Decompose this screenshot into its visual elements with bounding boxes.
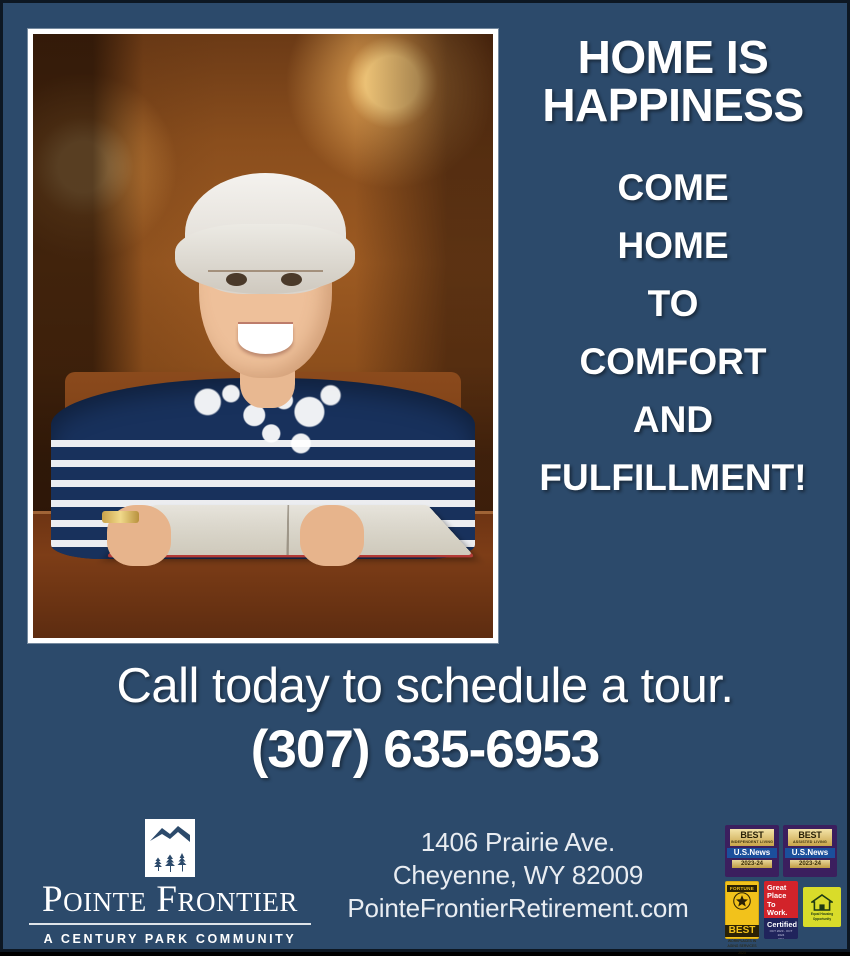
fortune-best-workplaces-badge: FORTUNE BEST WORKPLACES IN AGING SERVICE…: [725, 881, 759, 939]
website-url[interactable]: PointeFrontierRetirement.com: [323, 892, 713, 925]
award-badges: BEST INDEPENDENT LIVING U.S.News 2023-24…: [725, 825, 847, 939]
award-badges-row-2: FORTUNE BEST WORKPLACES IN AGING SERVICE…: [725, 881, 847, 939]
logo-wordmark: POINTE FRONTIER: [25, 880, 315, 922]
logo-word-frontier-rest: RONTIER: [177, 887, 298, 917]
award-badges-row-1: BEST INDEPENDENT LIVING U.S.News 2023-24…: [725, 825, 847, 877]
subheadline-line-4: COMFORT: [508, 333, 838, 391]
badge-best-word: BEST: [798, 830, 821, 840]
badge-year: 2023-24: [732, 860, 772, 868]
badge-brand: U.S.News: [785, 848, 835, 858]
logo-word-frontier-initial: F: [156, 879, 177, 920]
smile: [238, 324, 293, 354]
gptw-dates: OCT 2023 - OCT 2024: [767, 929, 795, 937]
subheadline-line-1: COME: [508, 159, 838, 217]
headline-line-2: HAPPINESS: [508, 81, 838, 129]
headline: HOME IS HAPPINESS: [508, 33, 838, 129]
resident-photo-frame: [28, 29, 498, 643]
logo-word-pointe-rest: OINTE: [63, 887, 146, 917]
resident-photo: [33, 34, 493, 638]
headline-column: HOME IS HAPPINESS COME HOME TO COMFORT A…: [508, 33, 838, 507]
gptw-country: USA: [767, 937, 795, 939]
badge-brand: U.S.News: [727, 848, 777, 858]
right-hand: [300, 505, 364, 565]
badge-year: 2023-24: [790, 860, 830, 868]
logo-tagline: A CENTURY PARK COMMUNITY: [25, 932, 315, 946]
house-icon: [811, 894, 833, 911]
subheadline-line-2: HOME: [508, 217, 838, 275]
subheadline-line-3: TO: [508, 275, 838, 333]
logo-word-pointe-initial: P: [42, 879, 63, 920]
gptw-line-4: Work.: [767, 909, 795, 917]
phone-number[interactable]: (307) 635-6953: [3, 719, 847, 781]
advertisement: HOME IS HAPPINESS COME HOME TO COMFORT A…: [0, 0, 850, 952]
us-news-best-independent-living-badge: BEST INDEPENDENT LIVING U.S.News 2023-24: [725, 825, 779, 877]
subheadline: COME HOME TO COMFORT AND FULFILLMENT!: [508, 159, 838, 507]
logo-divider: [29, 923, 311, 925]
eho-label-2: Opportunity: [813, 917, 831, 921]
right-eye: [281, 273, 302, 286]
badge-best-label: BEST INDEPENDENT LIVING: [730, 829, 774, 846]
gptw-headline: Great Place To Work.: [764, 881, 798, 918]
gptw-certified-label: Certified: [767, 921, 795, 929]
address-city-state-zip: Cheyenne, WY 82009: [323, 859, 713, 892]
fortune-best-label: BEST: [725, 925, 760, 937]
badge-best-word: BEST: [740, 830, 763, 840]
eho-label-1: Equal Housing: [811, 912, 833, 916]
badge-category: ASSISTED LIVING: [788, 840, 832, 845]
great-place-to-work-badge: Great Place To Work. Certified OCT 2023 …: [764, 881, 798, 939]
eyeglasses-icon: [208, 270, 323, 302]
address-street: 1406 Prairie Ave.: [323, 826, 713, 859]
headline-line-1: HOME IS: [508, 33, 838, 81]
equal-housing-opportunity-badge: Equal Housing Opportunity: [803, 887, 841, 927]
call-to-action-text: Call today to schedule a tour.: [3, 658, 847, 714]
subheadline-line-6: FULFILLMENT!: [508, 449, 838, 507]
pointe-frontier-logo: POINTE FRONTIER A CENTURY PARK COMMUNITY: [25, 819, 315, 946]
us-news-best-assisted-living-badge: BEST ASSISTED LIVING U.S.News 2023-24: [783, 825, 837, 877]
mountain-pines-icon: [145, 819, 195, 877]
badge-category: INDEPENDENT LIVING: [730, 840, 774, 845]
badge-best-label: BEST ASSISTED LIVING: [788, 829, 832, 846]
fortune-brand: FORTUNE: [727, 885, 757, 892]
bracelet: [102, 511, 139, 523]
left-eye: [226, 273, 247, 286]
fortune-subtitle: WORKPLACES IN AGING SERVICES: [726, 939, 758, 949]
star-icon: [733, 892, 751, 915]
address-block: 1406 Prairie Ave. Cheyenne, WY 82009 Poi…: [323, 826, 713, 925]
gptw-certified: Certified OCT 2023 - OCT 2024 USA: [764, 918, 798, 939]
subheadline-line-5: AND: [508, 391, 838, 449]
